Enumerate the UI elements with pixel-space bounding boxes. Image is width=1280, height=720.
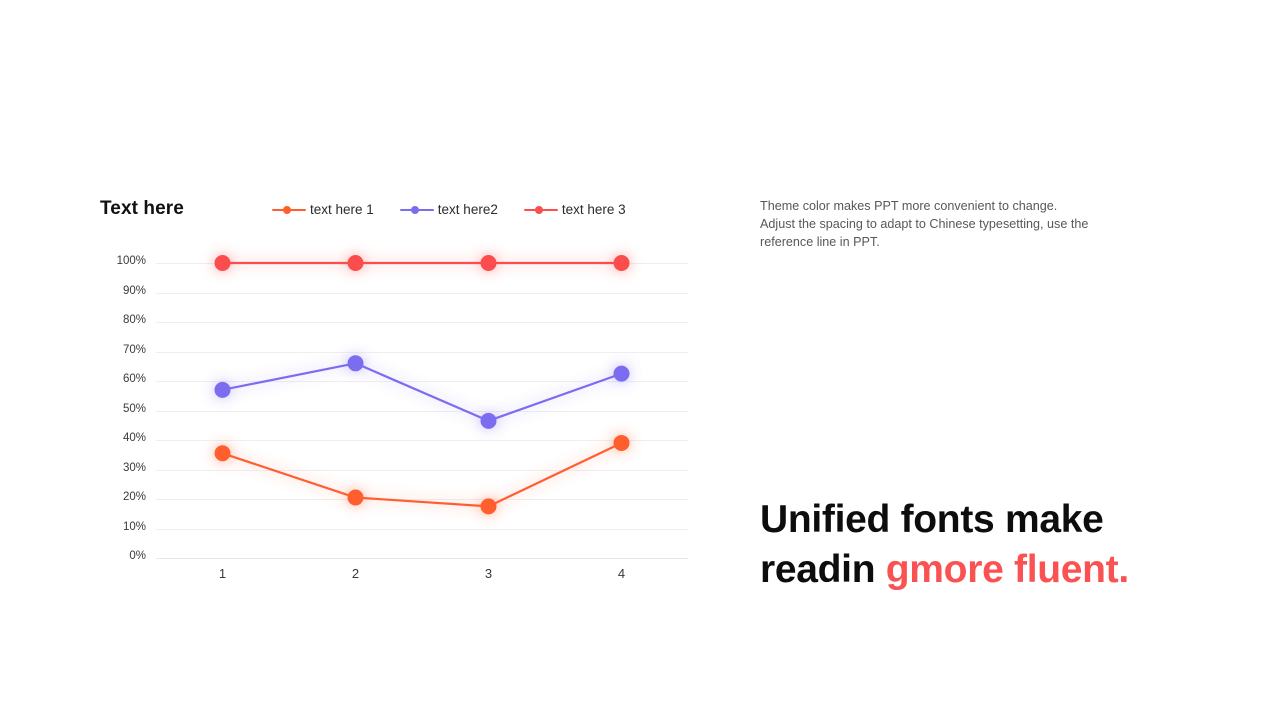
y-axis-tick-label: 70%: [96, 344, 146, 356]
x-axis-tick-label: 2: [352, 566, 359, 581]
legend-label: text here 1: [310, 203, 374, 217]
legend-label: text here 3: [562, 203, 626, 217]
series-3: [215, 255, 630, 271]
data-point-marker[interactable]: [614, 366, 630, 382]
x-axis: 1234: [156, 566, 688, 586]
legend-marker-icon: [400, 204, 434, 216]
slide-canvas: Text here text here 1 text here2: [0, 0, 1280, 720]
chart-legend: text here 1 text here2 text here 3: [272, 201, 626, 219]
data-point-marker[interactable]: [481, 413, 497, 429]
note-block: Theme color makes PPT more convenient to…: [760, 197, 1160, 251]
data-point-marker[interactable]: [215, 382, 231, 398]
legend-marker-icon: [524, 204, 558, 216]
legend-item-series-3[interactable]: text here 3: [524, 203, 626, 217]
x-axis-tick-label: 1: [219, 566, 226, 581]
data-point-marker[interactable]: [481, 498, 497, 514]
x-axis-tick-label: 4: [618, 566, 625, 581]
y-axis-tick-label: 60%: [96, 373, 146, 385]
series-2: [215, 355, 630, 429]
y-axis-tick-label: 0%: [96, 550, 146, 562]
y-axis-tick-label: 30%: [96, 462, 146, 474]
headline-accent: gmore fluent.: [886, 548, 1129, 591]
headline-line-1: Unified fonts make: [760, 495, 1180, 545]
data-point-marker[interactable]: [348, 255, 364, 271]
legend-label: text here2: [438, 203, 498, 217]
series-line: [223, 443, 622, 506]
x-axis-tick-label: 3: [485, 566, 492, 581]
series-1: [215, 435, 630, 514]
y-axis-tick-label: 10%: [96, 521, 146, 533]
y-axis: 100%90%80%70%60%50%40%30%20%10%0%: [96, 0, 146, 720]
y-axis-tick-label: 50%: [96, 403, 146, 415]
headline-line-2: readin gmore fluent.: [760, 545, 1180, 595]
data-point-marker[interactable]: [348, 355, 364, 371]
data-point-marker[interactable]: [614, 435, 630, 451]
data-point-marker[interactable]: [215, 255, 231, 271]
y-axis-tick-label: 90%: [96, 285, 146, 297]
series-layer: [156, 263, 688, 558]
legend-marker-icon: [272, 204, 306, 216]
chart-block: Text here text here 1 text here2: [0, 0, 700, 720]
data-point-marker[interactable]: [614, 255, 630, 271]
data-point-marker[interactable]: [481, 255, 497, 271]
y-axis-tick-label: 40%: [96, 432, 146, 444]
headline-block: Unified fonts make readin gmore fluent.: [760, 495, 1180, 595]
y-axis-tick-label: 100%: [96, 255, 146, 267]
y-axis-tick-label: 20%: [96, 491, 146, 503]
headline-plain: readin: [760, 548, 886, 591]
note-line-3: reference line in PPT.: [760, 233, 1160, 251]
note-line-1: Theme color makes PPT more convenient to…: [760, 197, 1160, 215]
gridline: [156, 558, 688, 559]
y-axis-tick-label: 80%: [96, 314, 146, 326]
series-line: [223, 363, 622, 421]
data-point-marker[interactable]: [348, 490, 364, 506]
note-line-2: Adjust the spacing to adapt to Chinese t…: [760, 215, 1160, 233]
legend-item-series-2[interactable]: text here2: [400, 203, 498, 217]
data-point-marker[interactable]: [215, 445, 231, 461]
legend-item-series-1[interactable]: text here 1: [272, 203, 374, 217]
